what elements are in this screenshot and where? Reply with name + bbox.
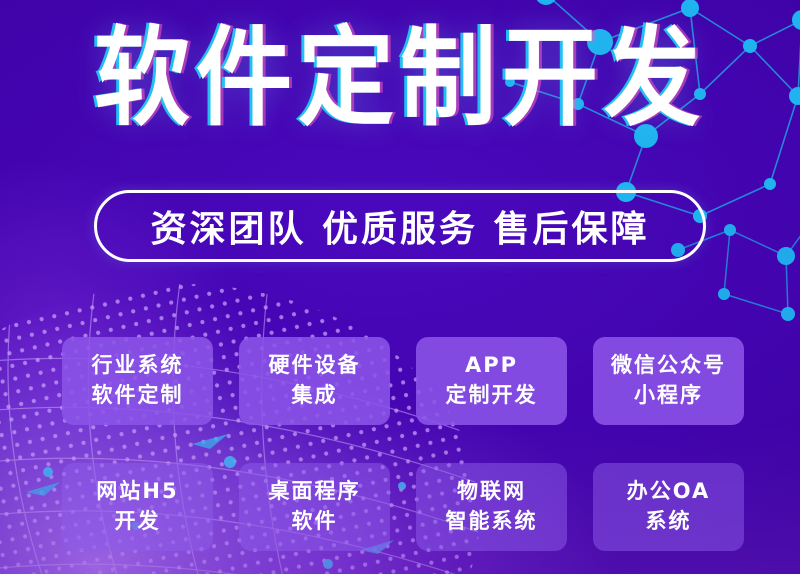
service-card-line1: 微信公众号 (611, 351, 726, 381)
page-title: 软件定制开发 (94, 22, 706, 135)
service-card[interactable]: 物联网 智能系统 (416, 463, 567, 551)
service-card-line2: 系统 (646, 507, 692, 537)
subtitle-pill: 资深团队 优质服务 售后保障 (94, 190, 706, 262)
service-card-line2: 软件定制 (92, 381, 184, 411)
service-card-line1: 桌面程序 (269, 477, 361, 507)
service-card[interactable]: 桌面程序 软件 (239, 463, 390, 551)
service-card-line2: 小程序 (634, 381, 703, 411)
subtitle-text: 资深团队 优质服务 售后保障 (150, 200, 649, 252)
service-card-row-2: 网站H5 开发 桌面程序 软件 物联网 智能系统 办公OA 系统 (62, 463, 744, 551)
service-card[interactable]: 网站H5 开发 (62, 463, 213, 551)
service-card-row-1: 行业系统 软件定制 硬件设备 集成 APP 定制开发 微信公众号 小程序 (62, 337, 744, 425)
service-card-line1: 硬件设备 (269, 351, 361, 381)
service-card-line2: 智能系统 (446, 507, 538, 537)
promo-banner: 软件定制开发 资深团队 优质服务 售后保障 行业系统 软件定制 硬件设备 集成 … (0, 0, 800, 574)
service-card-line1: 网站H5 (96, 477, 178, 507)
service-card-line1: 办公OA (627, 477, 711, 507)
service-card-line1: 行业系统 (92, 351, 184, 381)
service-card[interactable]: 行业系统 软件定制 (62, 337, 213, 425)
service-card[interactable]: 微信公众号 小程序 (593, 337, 744, 425)
service-card-line2: 开发 (115, 507, 161, 537)
service-card-line2: 定制开发 (446, 381, 538, 411)
service-card-line2: 软件 (292, 507, 338, 537)
service-card[interactable]: 办公OA 系统 (593, 463, 744, 551)
service-card[interactable]: 硬件设备 集成 (239, 337, 390, 425)
service-card-line2: 集成 (292, 381, 338, 411)
service-card-line1: 物联网 (457, 477, 526, 507)
service-card-line1: APP (465, 351, 518, 381)
title-container: 软件定制开发 (0, 22, 800, 123)
service-card[interactable]: APP 定制开发 (416, 337, 567, 425)
